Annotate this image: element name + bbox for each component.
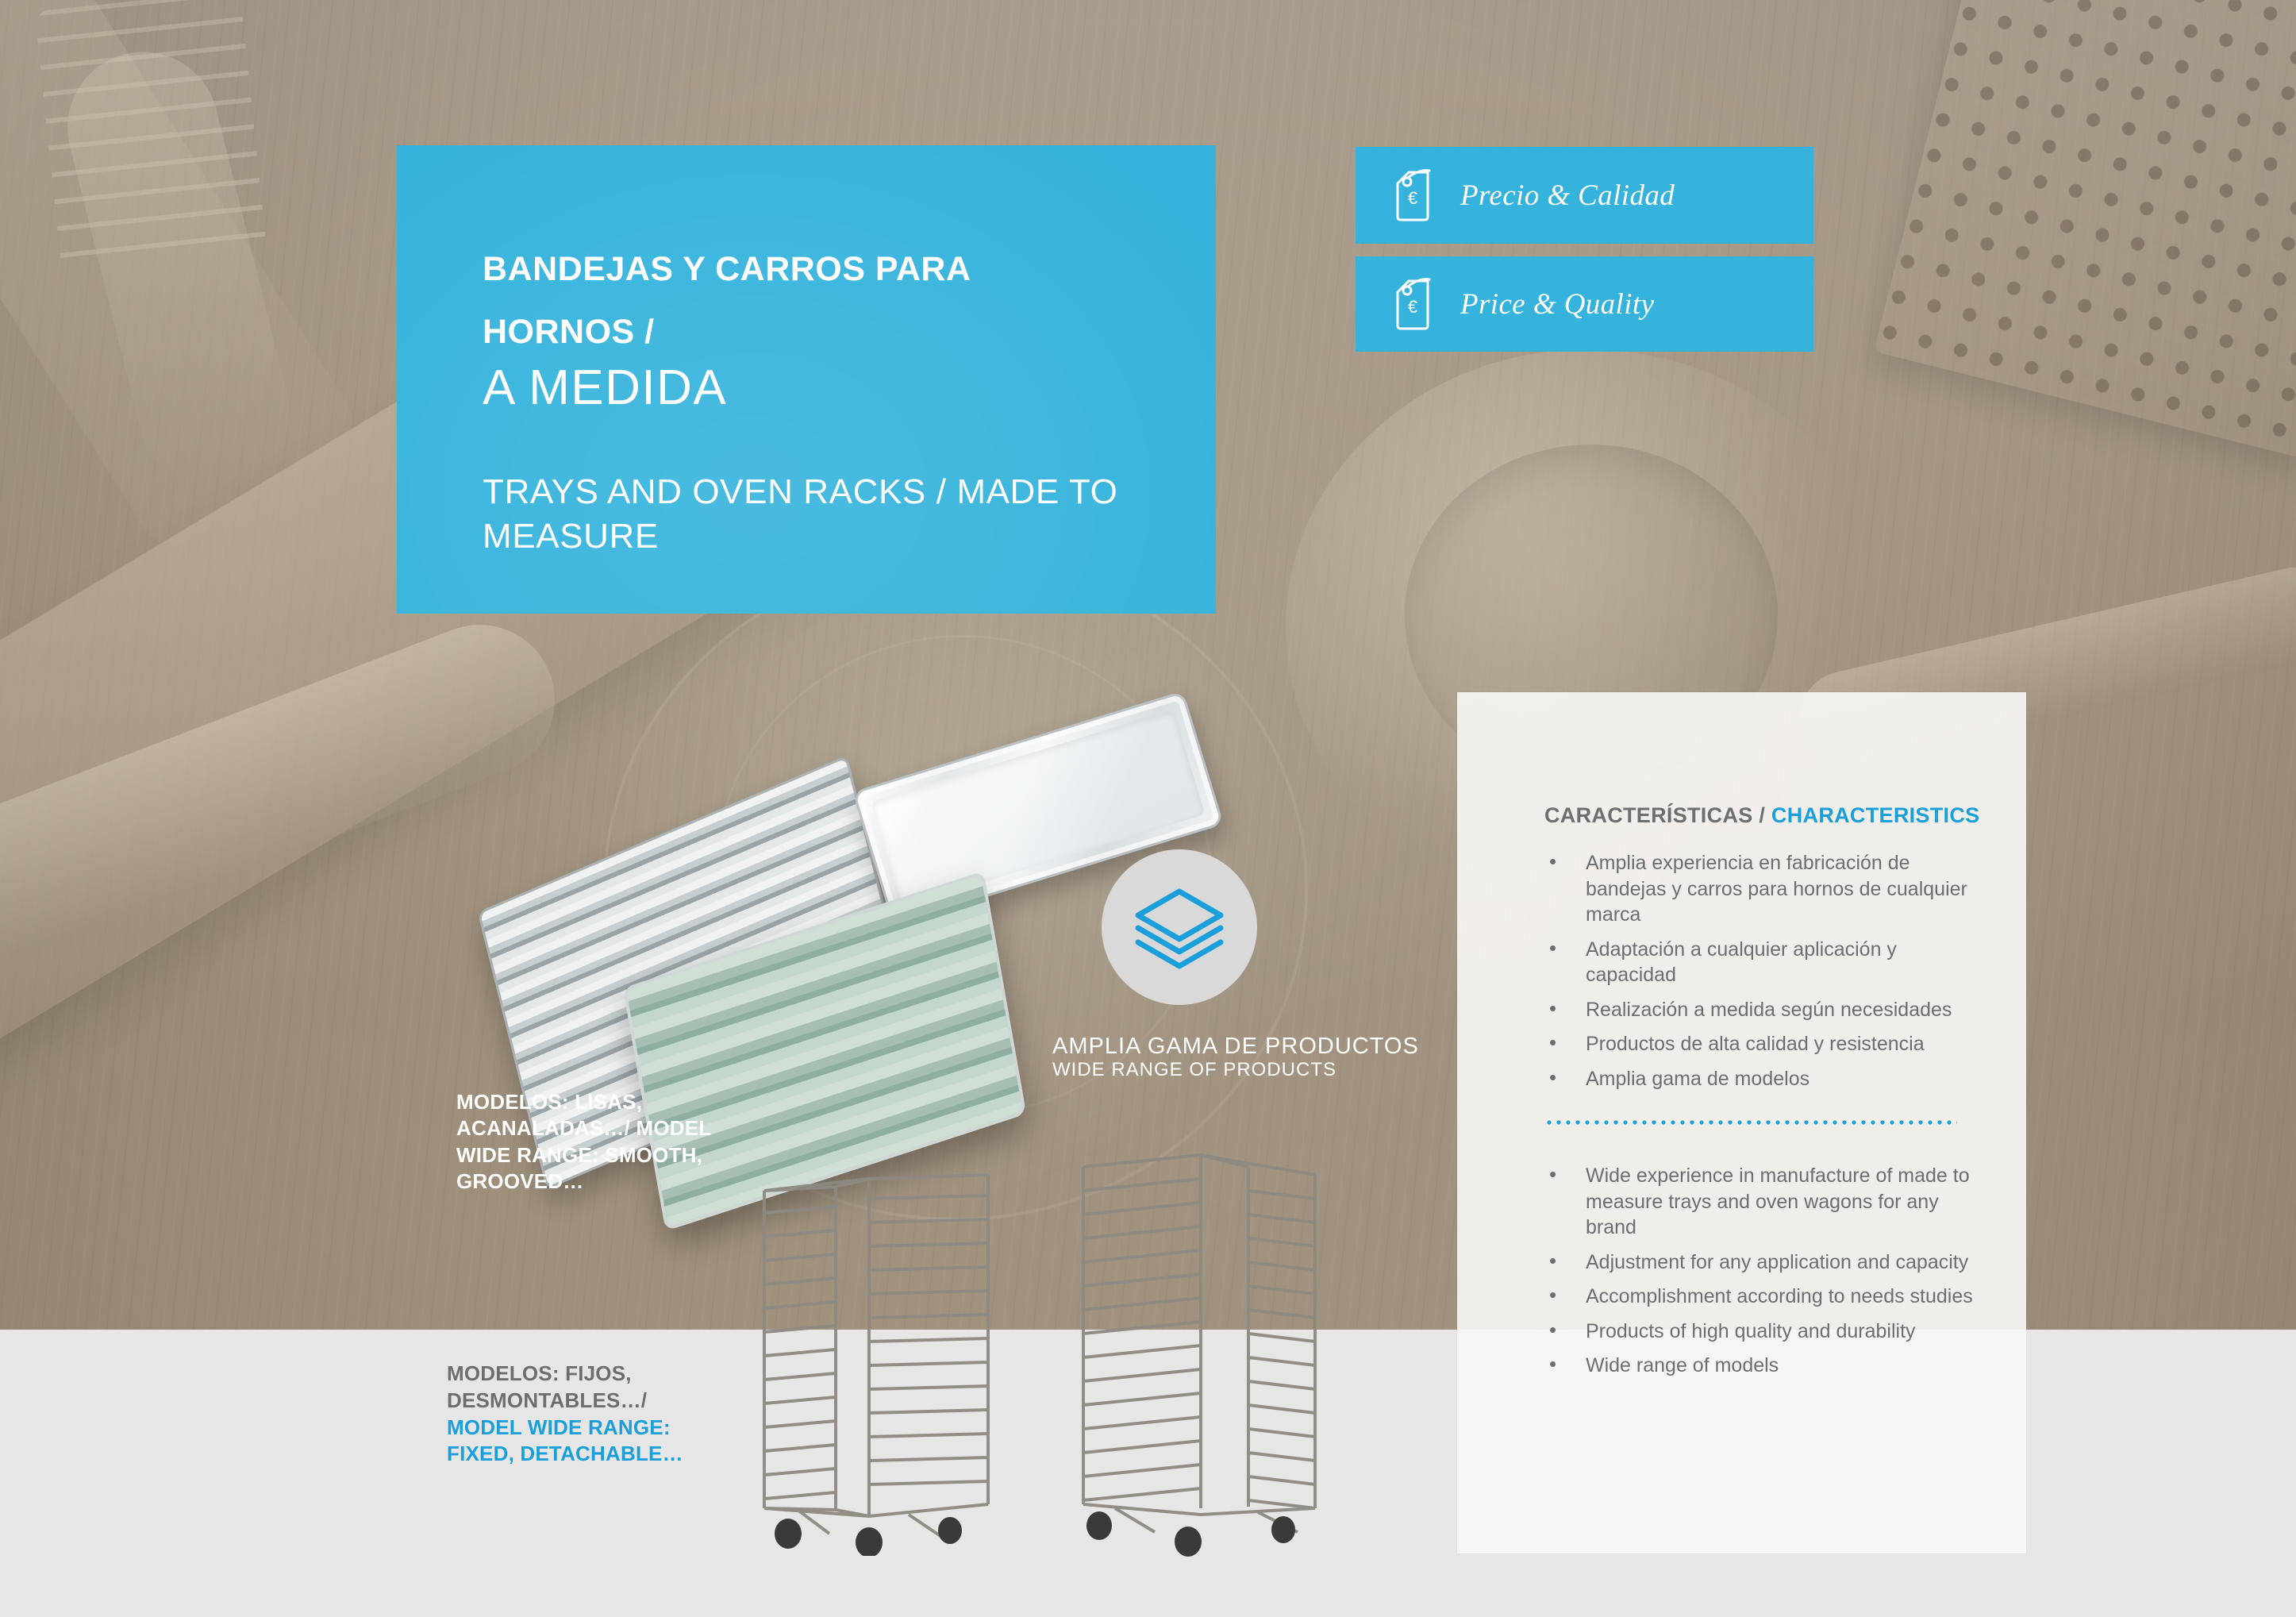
list-item: Wide experience in manufacture of made t… (1544, 1163, 1983, 1241)
hero-subtitle: TRAYS AND OVEN RACKS / MADE TO MEASURE (483, 470, 1165, 560)
list-item: Adjustment for any application and capac… (1544, 1249, 1983, 1276)
list-item: Amplia gama de modelos (1544, 1066, 1983, 1092)
caption-wide-range-en: WIDE RANGE OF PRODUCTS (1052, 1059, 1402, 1082)
list-item: Realización a medida según necesidades (1544, 997, 1983, 1023)
layers-icon-badge (1102, 849, 1257, 1005)
list-item: Accomplishment according to needs studie… (1544, 1284, 1983, 1310)
list-item: Adaptación a cualquier aplicación y capa… (1544, 937, 1983, 988)
badge-price-quality[interactable]: € Price & Quality (1356, 256, 1813, 352)
layers-stack-icon (1132, 882, 1227, 973)
price-tag-euro-icon: € (1356, 276, 1460, 332)
panel-title-es: CARACTERÍSTICAS (1544, 803, 1753, 827)
hero-headline: A MEDIDA (483, 364, 1168, 413)
badge-precio-calidad[interactable]: € Precio & Calidad (1356, 147, 1813, 244)
catalog-page: BANDEJAS Y CARROS PARA HORNOS / A MEDIDA… (0, 0, 2296, 1617)
characteristics-list-en: Wide experience in manufacture of made t… (1544, 1163, 1994, 1379)
caption-rack-models-en: MODEL WIDE RANGE: FIXED, DETACHABLE… (447, 1415, 683, 1466)
caption-tray-models: MODELOS: LISAS, ACANALADAS…/ MODEL WIDE … (456, 1089, 742, 1195)
list-item: Products of high quality and durability (1544, 1319, 1983, 1345)
price-tag-euro-icon: € (1356, 167, 1460, 223)
caption-wide-range-es: AMPLIA GAMA DE PRODUCTOS (1052, 1034, 1402, 1059)
panel-title-en: CHARACTERISTICS (1771, 803, 1980, 827)
characteristics-panel: CARACTERÍSTICAS / CHARACTERISTICS Amplia… (1457, 692, 2026, 1553)
panel-title: CARACTERÍSTICAS / CHARACTERISTICS (1544, 803, 1994, 828)
list-item: Wide range of models (1544, 1353, 1983, 1379)
hero-line-2: HORNOS / (483, 315, 1168, 349)
characteristics-list-es: Amplia experiencia en fabricación de ban… (1544, 850, 1994, 1091)
characteristics-panel-inner: CARACTERÍSTICAS / CHARACTERISTICS Amplia… (1544, 803, 1994, 1388)
product-photo-oven-rack-trolley-left (750, 1143, 1012, 1556)
hero-title-box: BANDEJAS Y CARROS PARA HORNOS / A MEDIDA… (397, 145, 1216, 614)
dotted-divider (1544, 1120, 1957, 1125)
svg-text:€: € (1408, 188, 1417, 208)
hero-title-inner: BANDEJAS Y CARROS PARA HORNOS / A MEDIDA… (483, 252, 1168, 560)
caption-rack-models-es: MODELOS: FIJOS, DESMONTABLES…/ (447, 1361, 647, 1412)
badge-label: Price & Quality (1460, 287, 1654, 321)
caption-rack-models: MODELOS: FIJOS, DESMONTABLES…/ MODEL WID… (447, 1361, 709, 1468)
hero-line-1: BANDEJAS Y CARROS PARA (483, 252, 1168, 287)
svg-text:€: € (1408, 297, 1417, 317)
badge-label: Precio & Calidad (1460, 179, 1675, 213)
list-item: Productos de alta calidad y resistencia (1544, 1031, 1983, 1057)
product-photo-oven-rack-trolley-right (1067, 1135, 1337, 1564)
caption-wide-range-of-products: AMPLIA GAMA DE PRODUCTOS WIDE RANGE OF P… (1052, 1034, 1402, 1082)
list-item: Amplia experiencia en fabricación de ban… (1544, 850, 1983, 928)
panel-title-separator: / (1753, 803, 1771, 827)
